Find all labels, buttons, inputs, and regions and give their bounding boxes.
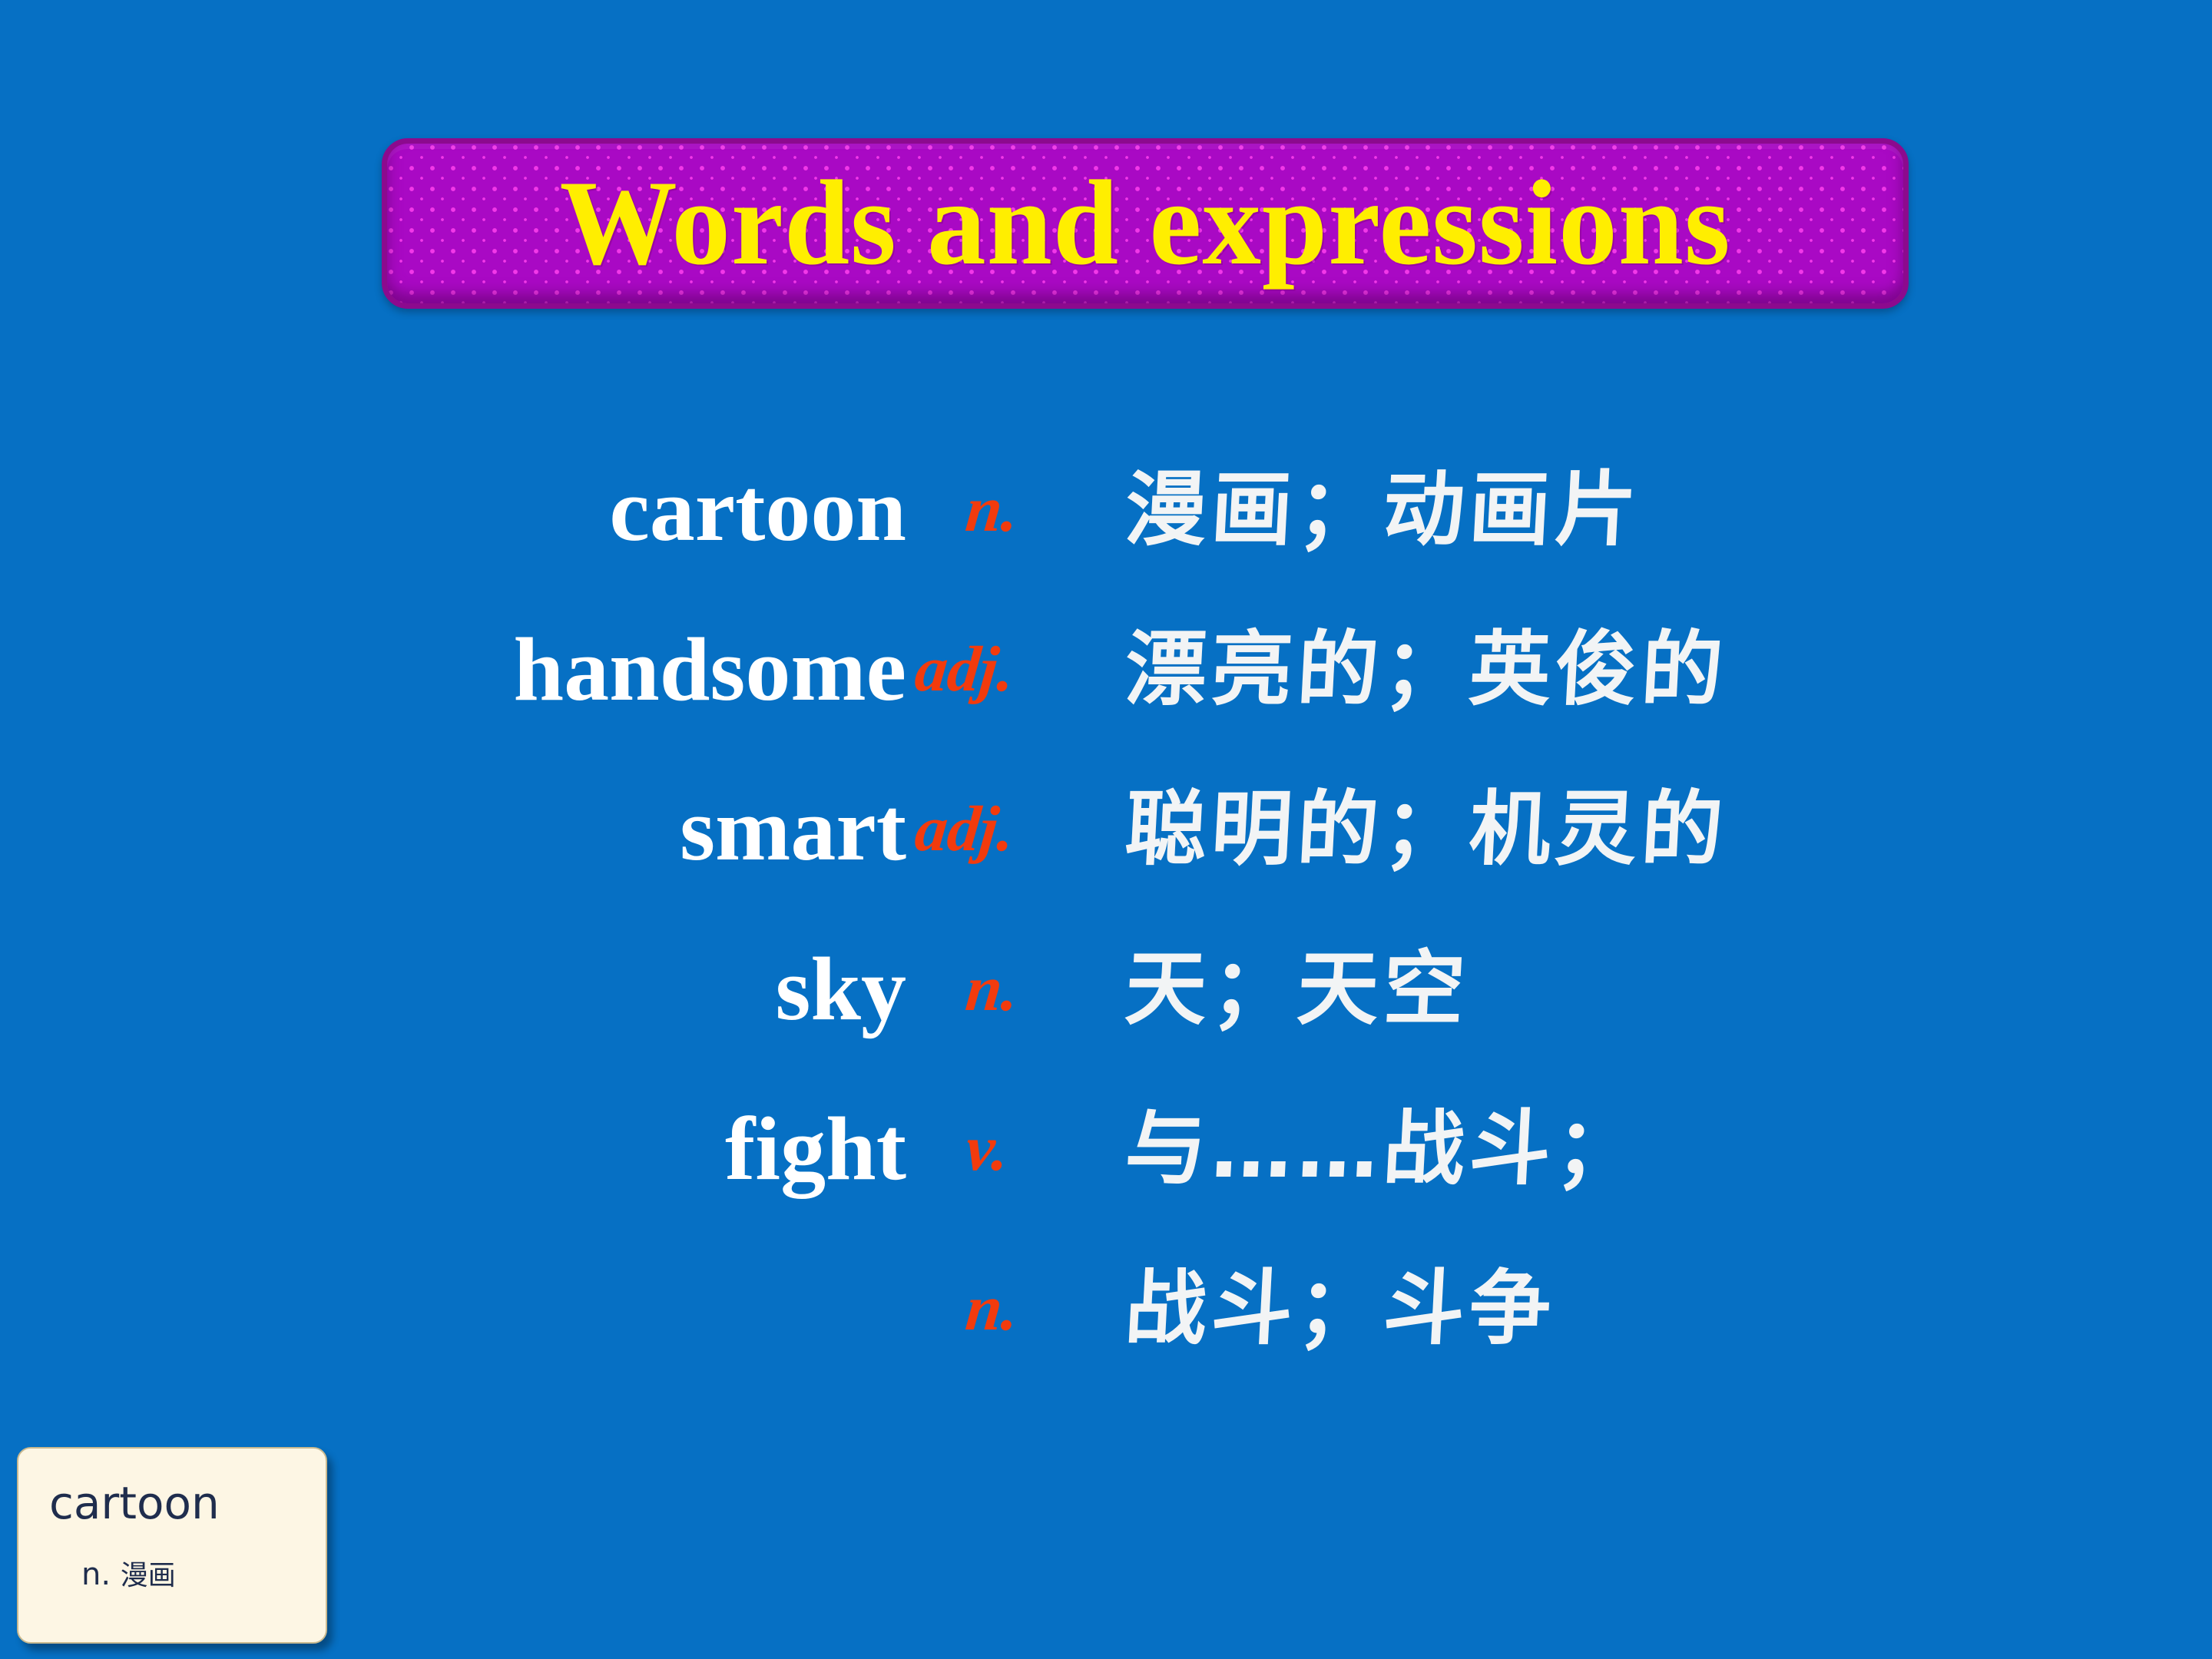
table-row: fight v. 与……战斗； (0, 1069, 2212, 1229)
chinese-translation: 战斗；斗争 (1123, 1268, 1558, 1349)
pos-cell: n. (906, 909, 1119, 1069)
translation-cell: 天；天空 (1119, 909, 2212, 1069)
tooltip-translation: 漫画 (121, 1560, 176, 1591)
word-cell: smart (0, 750, 906, 909)
vocab-word: smart (680, 779, 906, 879)
table-row: smart adj. 聪明的；机灵的 (0, 750, 2212, 909)
slide-canvas: Words and expressions cartoon n. 漫画；动画片 … (0, 0, 2212, 1659)
vocab-word: fight (725, 1098, 906, 1199)
table-row: n. 战斗；斗争 (0, 1229, 2212, 1389)
tooltip-definition: n. 漫画 (49, 1559, 326, 1590)
dictionary-tooltip[interactable]: cartoon n. 漫画 (17, 1447, 327, 1644)
table-row: sky n. 天；天空 (0, 909, 2212, 1069)
word-cell (0, 1229, 906, 1389)
part-of-speech: v. (912, 1117, 1012, 1181)
part-of-speech: n. (912, 478, 1022, 542)
translation-cell: 漂亮的；英俊的 (1119, 590, 2212, 750)
pos-cell: adj. (906, 750, 1119, 909)
part-of-speech: adj. (912, 637, 1018, 702)
tooltip-word: cartoon (49, 1481, 326, 1525)
chinese-translation: 漫画；动画片 (1123, 469, 1644, 551)
title-banner: Words and expressions (382, 138, 1909, 309)
translation-cell: 漫画；动画片 (1119, 430, 2212, 590)
vocabulary-table: cartoon n. 漫画；动画片 handsome adj. 漂亮的；英俊的 (0, 430, 2212, 1389)
chinese-translation: 聪明的；机灵的 (1123, 789, 1730, 870)
word-cell: sky (0, 909, 906, 1069)
part-of-speech: n. (912, 957, 1022, 1022)
chinese-translation: 天；天空 (1123, 949, 1472, 1030)
part-of-speech: adj. (912, 797, 1018, 862)
page-title: Words and expressions (560, 163, 1731, 284)
word-cell: fight (0, 1069, 906, 1229)
tooltip-part-of-speech: n. (81, 1557, 111, 1592)
part-of-speech: n. (912, 1277, 1022, 1341)
translation-cell: 战斗；斗争 (1119, 1229, 2212, 1389)
table-row: cartoon n. 漫画；动画片 (0, 430, 2212, 590)
vocab-word: sky (775, 939, 906, 1039)
vocab-word: handsome (514, 619, 906, 720)
translation-cell: 聪明的；机灵的 (1119, 750, 2212, 909)
chinese-translation: 漂亮的；英俊的 (1123, 629, 1730, 710)
pos-cell: n. (906, 430, 1119, 590)
vocab-word: cartoon (609, 459, 906, 560)
pos-cell: v. (906, 1069, 1119, 1229)
word-cell: handsome (0, 590, 906, 750)
chinese-translation: 与……战斗； (1123, 1108, 1644, 1190)
table-row: handsome adj. 漂亮的；英俊的 (0, 590, 2212, 750)
word-cell: cartoon (0, 430, 906, 590)
pos-cell: adj. (906, 590, 1119, 750)
pos-cell: n. (906, 1229, 1119, 1389)
translation-cell: 与……战斗； (1119, 1069, 2212, 1229)
